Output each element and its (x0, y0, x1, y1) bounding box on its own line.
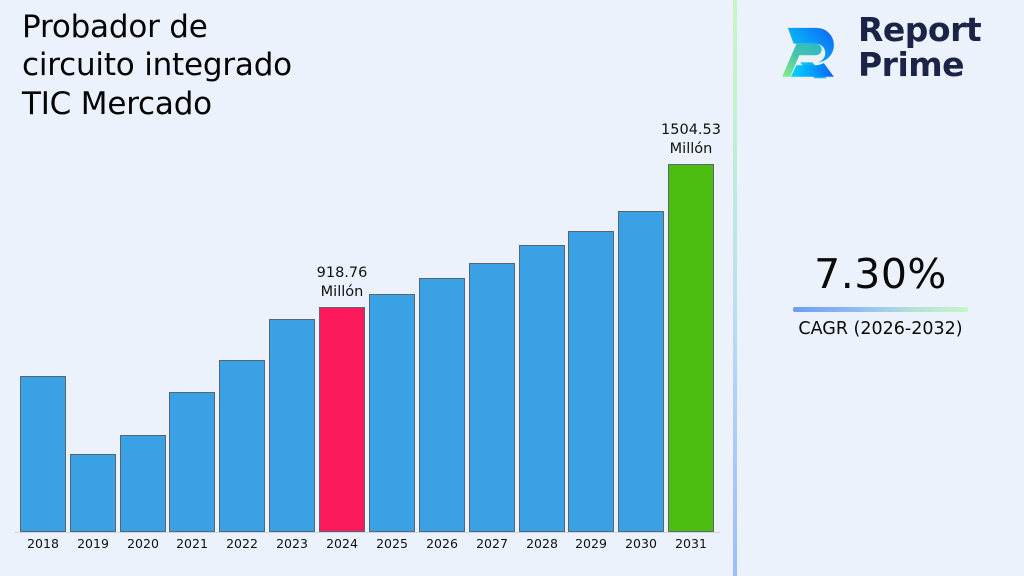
bar-value-label-2031: 1504.53 Millón (636, 121, 746, 159)
brand-logo: Report Prime (771, 12, 981, 84)
brand-panel: Report Prime 7.30% CAGR (2026-2032) (737, 0, 1024, 576)
bar-2031 (668, 164, 714, 532)
bar-2019 (70, 454, 116, 532)
cagr-block: 7.30% CAGR (2026-2032) (737, 253, 1024, 339)
bar-2029 (568, 231, 614, 532)
x-tick-2031: 2031 (661, 536, 721, 551)
bar-2027 (469, 263, 515, 532)
bar-2025 (369, 294, 415, 532)
cagr-value: 7.30% (737, 253, 1024, 296)
bar-2018 (20, 376, 66, 532)
bar-2030 (618, 211, 664, 532)
bar-2023 (269, 319, 315, 532)
brand-name: Report Prime (858, 13, 981, 83)
bar-2020 (120, 435, 166, 532)
cagr-divider (793, 307, 968, 312)
x-axis-line (14, 532, 720, 533)
bar-2021 (169, 392, 215, 532)
cagr-caption: CAGR (2026-2032) (737, 319, 1024, 339)
page-title: Probador de circuito integrado TIC Merca… (22, 8, 442, 123)
bar-2022 (219, 360, 265, 532)
bar-2028 (519, 245, 565, 532)
report-prime-r-logo-icon (771, 12, 845, 84)
bar-2024 (319, 307, 365, 532)
bar-2026 (419, 278, 465, 532)
bar-chart-plot-area: 918.76 Millón1504.53 Millón (0, 150, 733, 533)
x-axis-tick-labels: 2018201920202021202220232024202520262027… (0, 536, 733, 566)
chart-panel: Probador de circuito integrado TIC Merca… (0, 0, 733, 576)
infographic-root: Probador de circuito integrado TIC Merca… (0, 0, 1024, 576)
